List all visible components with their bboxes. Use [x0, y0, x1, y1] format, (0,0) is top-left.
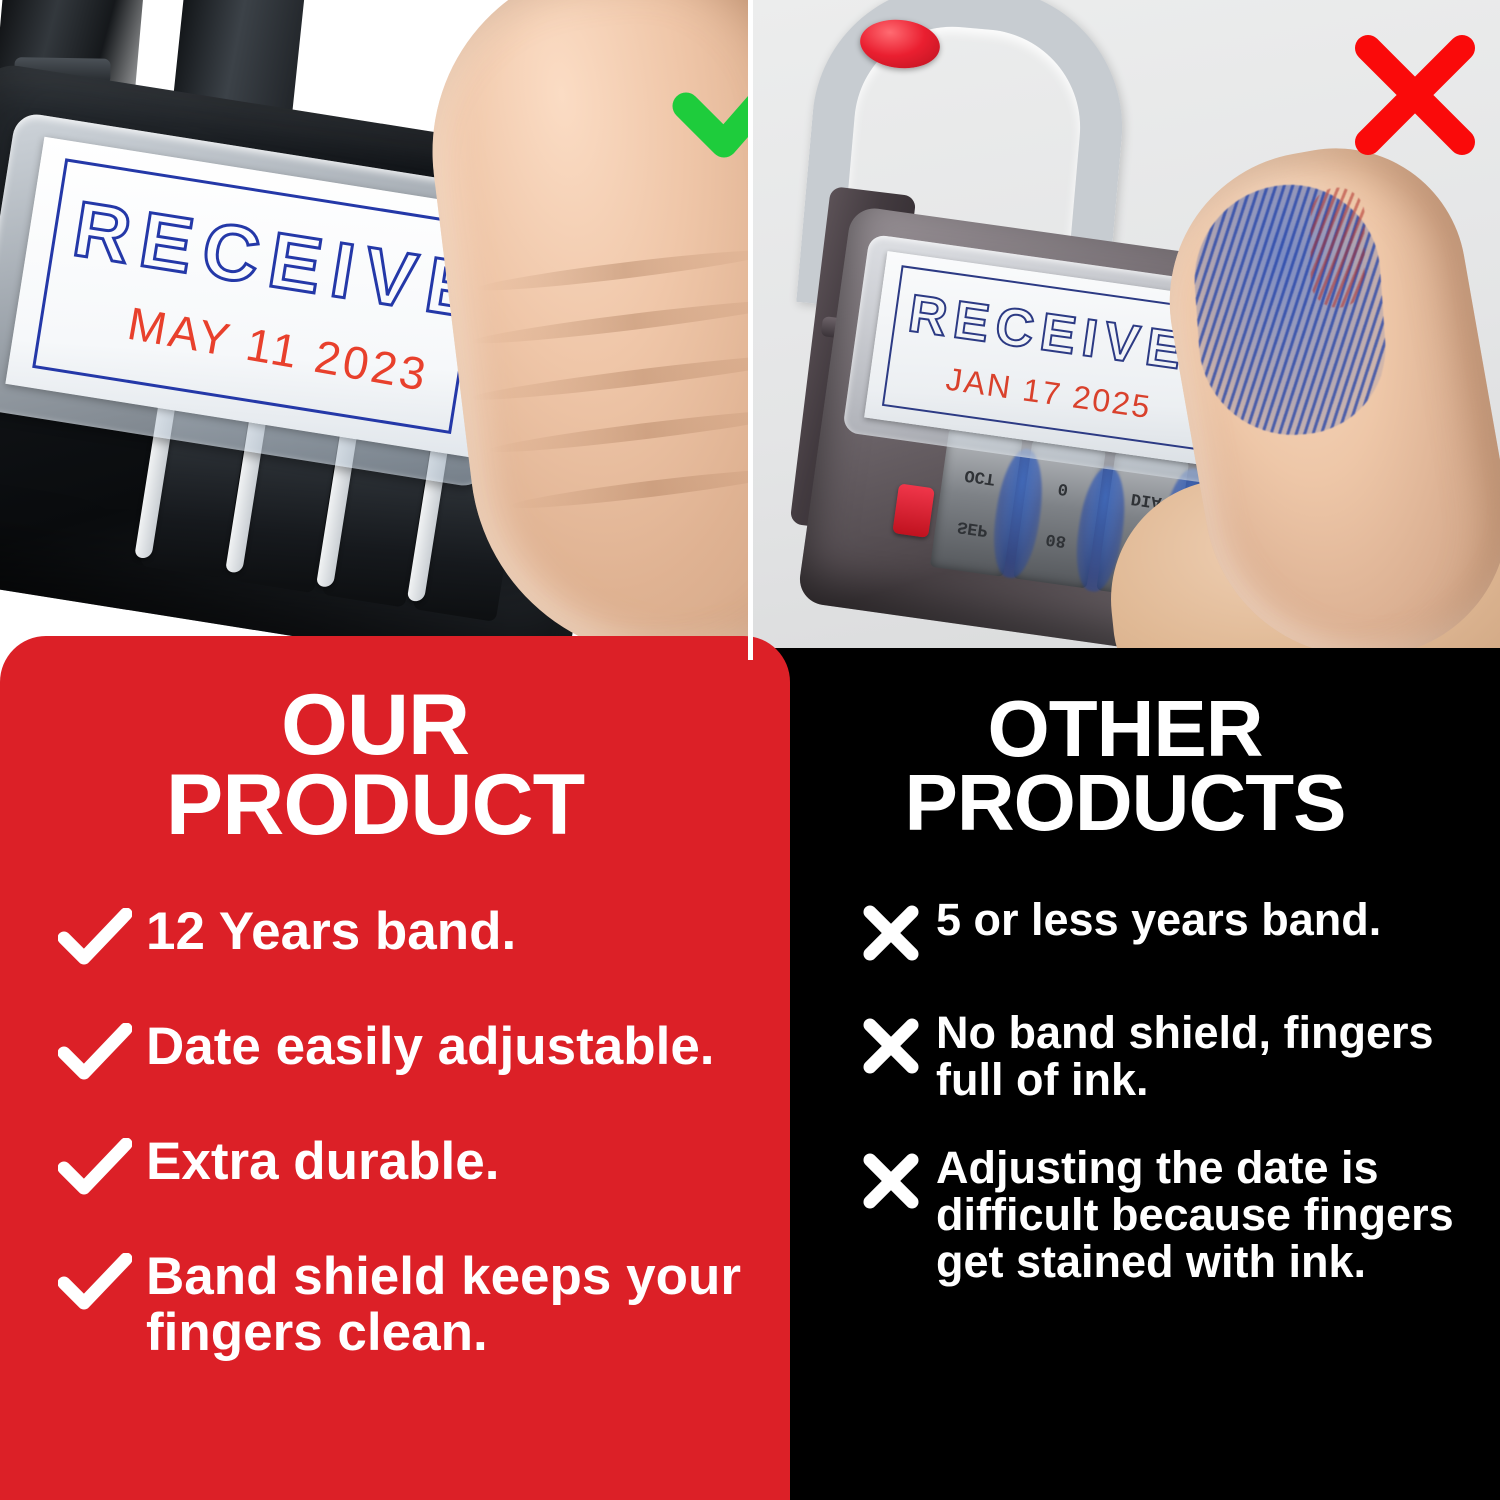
our-product-photo: RECEIVED MAY 11 2023: [0, 0, 750, 660]
x-icon: [860, 896, 922, 969]
list-item: Date easily adjustable.: [58, 1019, 748, 1088]
heading-line-1: OTHER: [750, 692, 1500, 766]
photo-divider: [748, 0, 753, 660]
list-item: Adjusting the date is difficult because …: [860, 1144, 1478, 1286]
our-product-heading: OUR PRODUCT: [0, 686, 750, 846]
list-item: 12 Years band.: [58, 904, 748, 973]
check-icon: [58, 904, 132, 973]
list-item-label: Adjusting the date is difficult because …: [936, 1144, 1478, 1286]
list-item-label: 5 or less years band.: [936, 896, 1381, 943]
list-item-label: Band shield keeps your fingers clean.: [146, 1249, 748, 1360]
our-product-panel: OUR PRODUCT 12 Years band. Date easily: [0, 636, 790, 1500]
list-item-label: Date easily adjustable.: [146, 1019, 715, 1075]
heading-line-2: PRODUCT: [0, 766, 750, 846]
check-icon: [58, 1134, 132, 1203]
check-icon: [58, 1249, 132, 1318]
list-item: No band shield, fingers full of ink.: [860, 1009, 1478, 1104]
list-item: 5 or less years band.: [860, 896, 1478, 969]
comparison-infographic: RECEIVED MAY 11 2023: [0, 0, 1500, 1500]
other-products-bullet-list: 5 or less years band. No band shield, fi…: [860, 896, 1478, 1325]
red-ink-smudge: [1311, 188, 1365, 308]
heading-line-1: OUR: [0, 686, 750, 766]
red-cross-icon: [1350, 30, 1480, 160]
check-icon: [58, 1019, 132, 1088]
x-icon: [860, 1009, 922, 1082]
green-check-icon: [672, 40, 750, 170]
list-item-label: No band shield, fingers full of ink.: [936, 1009, 1478, 1104]
list-item-label: Extra durable.: [146, 1134, 499, 1190]
band-adjuster-tab: [892, 483, 935, 538]
list-item-label: 12 Years band.: [146, 904, 516, 960]
x-icon: [860, 1144, 922, 1217]
heading-line-2: PRODUCTS: [750, 766, 1500, 840]
list-item: Extra durable.: [58, 1134, 748, 1203]
our-product-bullet-list: 12 Years band. Date easily adjustable. E…: [58, 904, 748, 1406]
photo-comparison-row: RECEIVED MAY 11 2023: [0, 0, 1500, 660]
other-products-panel: OTHER PRODUCTS 5 or less years band. N: [750, 648, 1500, 1500]
other-products-heading: OTHER PRODUCTS: [750, 692, 1500, 841]
list-item: Band shield keeps your fingers clean.: [58, 1249, 748, 1360]
other-products-photo: OCT SEP 0 08 DIA ETA: [750, 0, 1500, 660]
